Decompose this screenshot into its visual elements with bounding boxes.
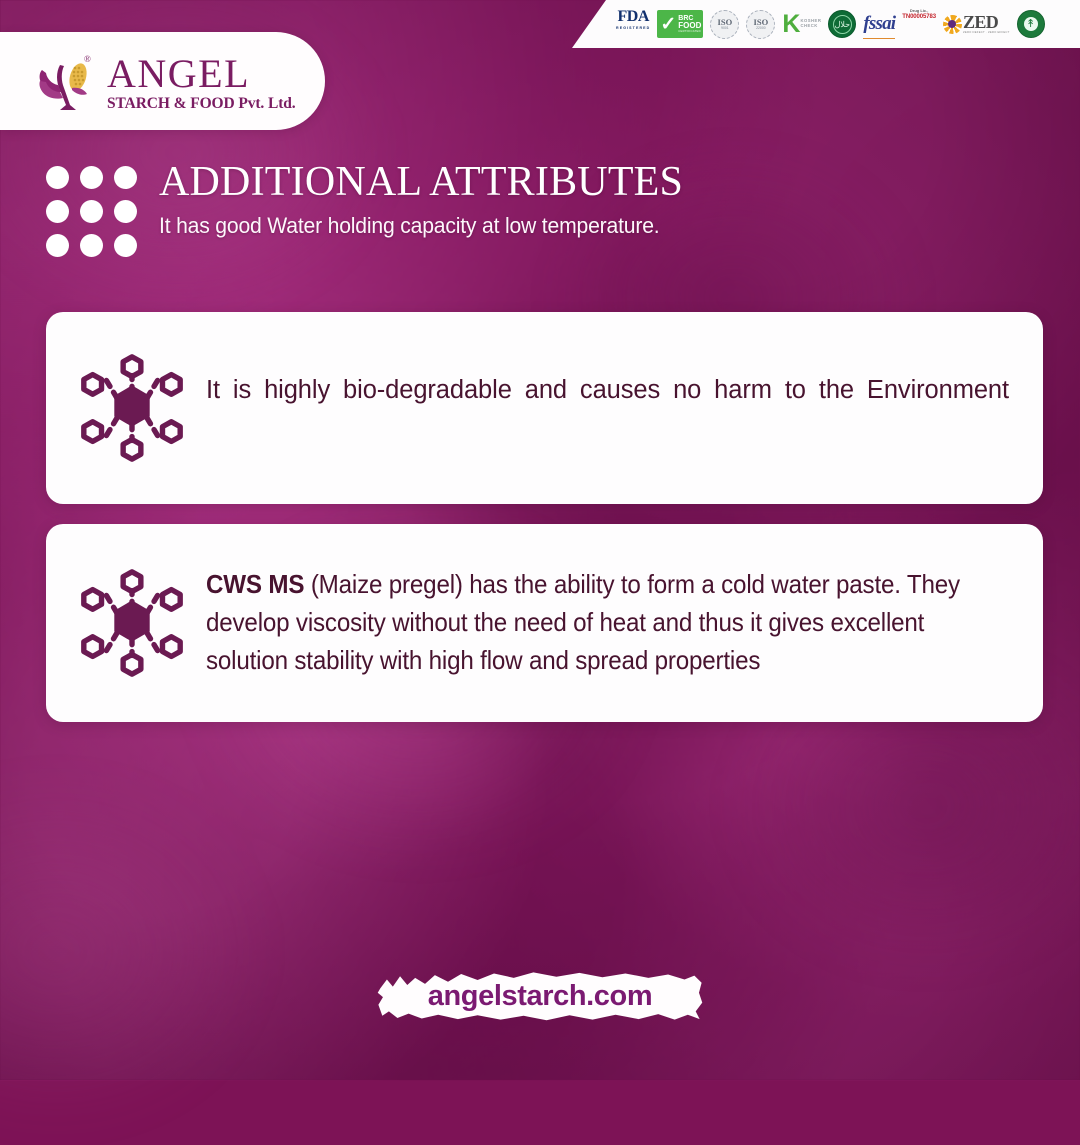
kosher-k-letter: K — [782, 14, 798, 35]
brc-food-badge: ✓ BRC FOOD CERTIFICATED — [657, 10, 703, 38]
zed-name: ZED — [963, 14, 1010, 31]
attribute-card-text: It is highly bio-degradable and causes n… — [206, 372, 1009, 444]
zed-sub: ZERO DEFECT · ZERO EFFECT — [963, 31, 1010, 34]
halal-glyph: حلال — [833, 15, 852, 34]
fda-word: FDA — [617, 9, 648, 25]
card-body-2-rest: (Maize pregel) has the ability to form a… — [206, 569, 960, 675]
attribute-card-list: It is highly bio-degradable and causes n… — [46, 312, 1043, 722]
iso-sub: 22000 — [756, 27, 765, 30]
drug-license-text: Drug Lic., TN00005783 — [902, 9, 936, 39]
drug-license-number: TN00005783 — [902, 14, 936, 21]
brand-logo: ® ANGEL STARCH & FOOD Pvt. Ltd. — [0, 32, 325, 130]
logo-name: ANGEL — [107, 54, 296, 93]
molecule-hexagon-icon — [68, 349, 196, 467]
iso-22000-badge: ISO 22000 — [746, 10, 775, 39]
fda-registered-badge: FDA REGISTERED — [616, 9, 650, 39]
footer: angelstarch.com — [0, 962, 1080, 1030]
attribute-card: It is highly bio-degradable and causes n… — [46, 312, 1043, 504]
gear-icon — [943, 15, 962, 34]
fda-sub: REGISTERED — [616, 27, 650, 31]
page-title: ADDITIONAL ATTRIBUTES — [159, 160, 691, 204]
kosher-line2: CHECK — [800, 24, 821, 29]
leaf-icon: ↟ — [1024, 17, 1038, 31]
brc-line3: CERTIFICATED — [678, 30, 701, 33]
halal-seal-badge: حلال — [828, 10, 856, 38]
green-leaf-seal-badge: ↟ — [1017, 10, 1045, 38]
brush-stroke-banner: angelstarch.com — [376, 969, 704, 1024]
svg-text:®: ® — [84, 54, 91, 64]
page-subtitle: It has good Water holding capacity at lo… — [159, 213, 659, 239]
attribute-card: CWS MS (Maize pregel) has the ability to… — [46, 524, 1043, 722]
iso-9001-badge: ISO 9001 — [710, 10, 739, 39]
section-heading: ADDITIONAL ATTRIBUTES It has good Water … — [46, 160, 691, 257]
logo-tagline: STARCH & FOOD Pvt. Ltd. — [107, 96, 296, 112]
fssai-badge: fssai — [863, 9, 895, 39]
molecule-hexagon-icon — [68, 564, 196, 682]
card-body-2-bold: CWS MS — [206, 569, 304, 599]
iso-sub: 9001 — [721, 27, 729, 30]
angel-bird-corn-logo: ® — [36, 50, 98, 112]
kosher-check-badge: K KOSHER CHECK — [782, 9, 821, 39]
website-url[interactable]: angelstarch.com — [428, 980, 652, 1013]
attribute-card-text: CWS MS (Maize pregel) has the ability to… — [206, 566, 1009, 680]
dot-grid-3x3-icon — [46, 166, 137, 257]
card-body-2: CWS MS (Maize pregel) has the ability to… — [206, 566, 1009, 680]
zed-certified-badge: ZED ZERO DEFECT · ZERO EFFECT — [943, 9, 1010, 39]
certification-badge-bar: FDA REGISTERED ✓ BRC FOOD CERTIFICATED I… — [572, 0, 1080, 48]
card-body-1: It is highly bio-degradable and causes n… — [206, 372, 1009, 444]
check-icon: ✓ — [660, 15, 676, 34]
